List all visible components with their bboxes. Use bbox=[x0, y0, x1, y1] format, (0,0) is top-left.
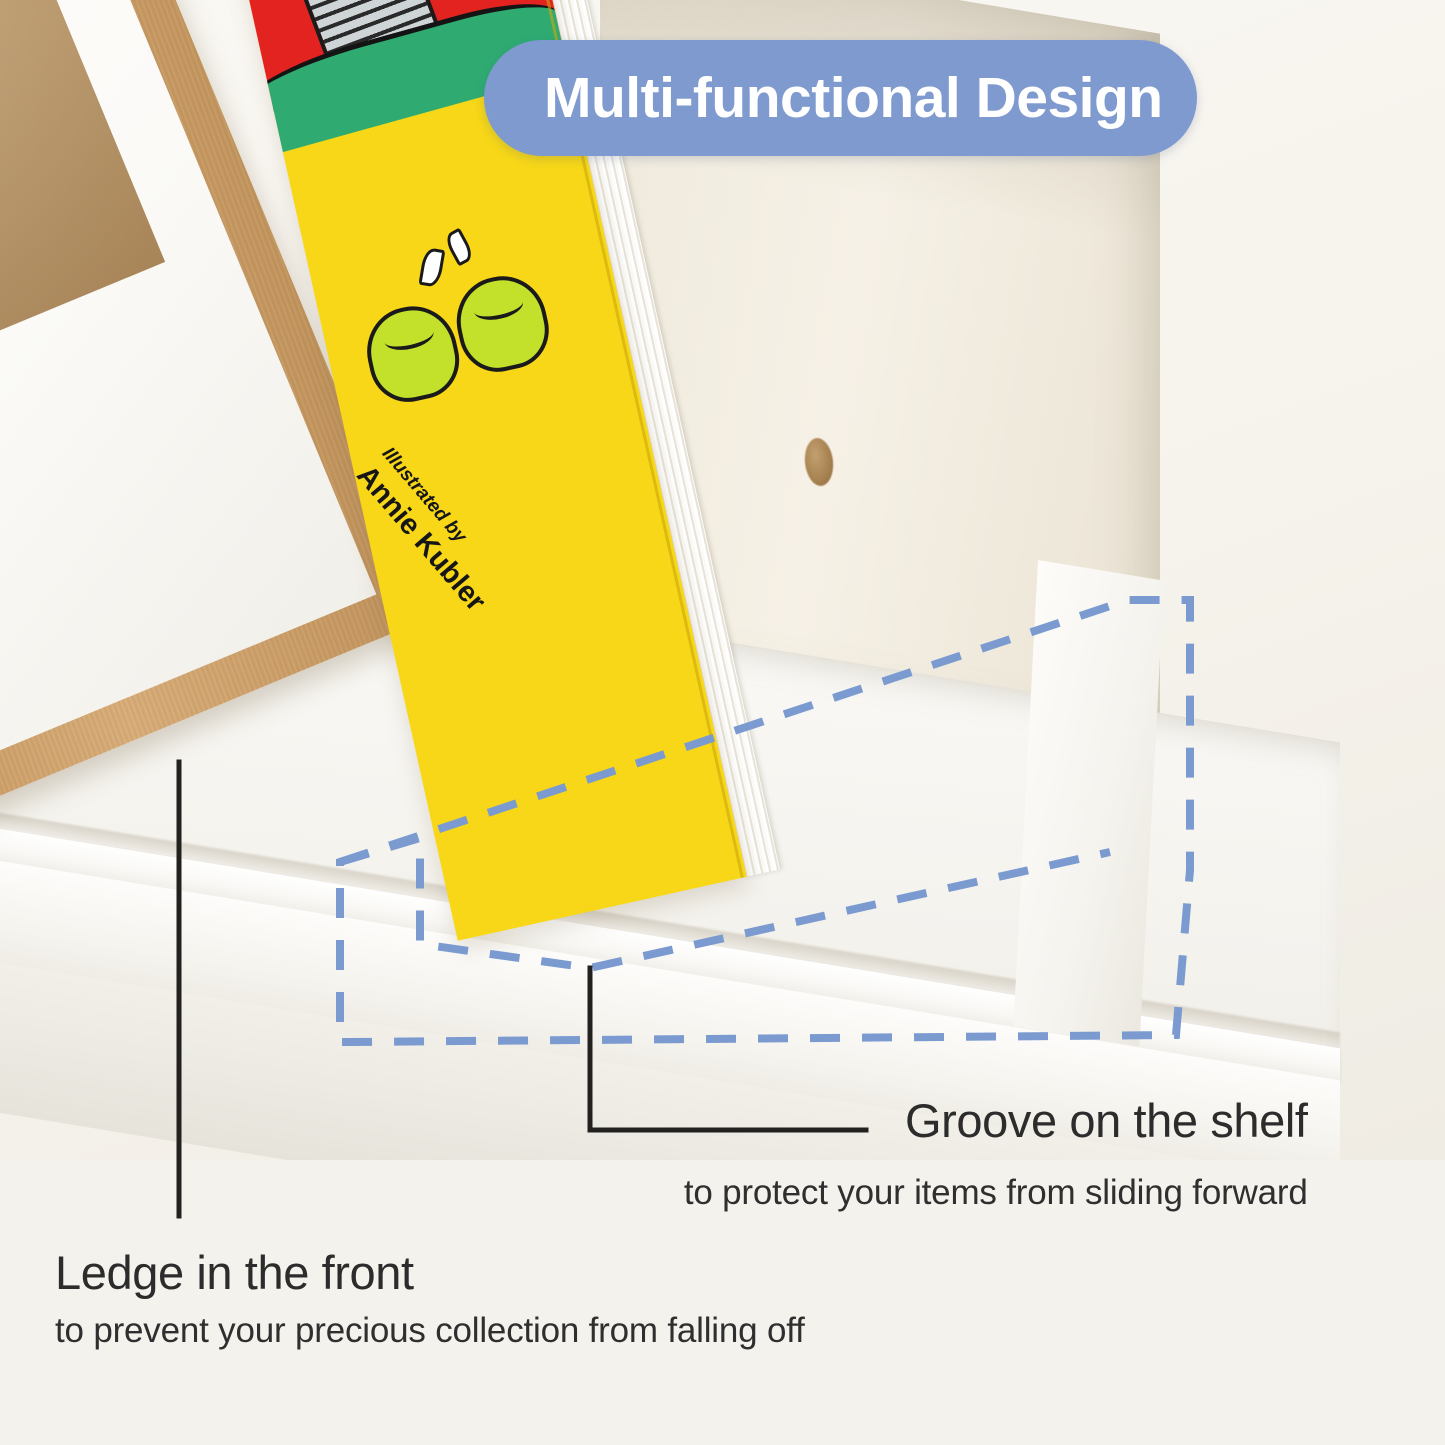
product-infographic: Illustrated by Annie Kubler Multi-functi… bbox=[0, 0, 1445, 1445]
callout-ledge-subtitle: to prevent your precious collection from… bbox=[55, 1310, 805, 1352]
book-art-frog-left bbox=[359, 298, 467, 409]
book-art-frog-right bbox=[448, 268, 556, 379]
product-photo: Illustrated by Annie Kubler bbox=[0, 0, 1445, 1160]
banner-label: Multi-functional Design bbox=[544, 65, 1163, 131]
callout-groove-title: Groove on the shelf bbox=[905, 1096, 1308, 1146]
book-art-splash-5 bbox=[443, 228, 476, 267]
shelf-right-endcap bbox=[1013, 560, 1164, 1047]
banner-multi-functional-design: Multi-functional Design bbox=[484, 40, 1197, 156]
callout-groove: Groove on the shelf to protect your item… bbox=[905, 1096, 1308, 1146]
callout-ledge: Ledge in the front to prevent your preci… bbox=[55, 1248, 805, 1352]
callout-groove-subtitle: to protect your items from sliding forwa… bbox=[684, 1172, 1308, 1214]
callout-ledge-title: Ledge in the front bbox=[55, 1248, 805, 1298]
book-art-splash-4 bbox=[418, 247, 445, 288]
